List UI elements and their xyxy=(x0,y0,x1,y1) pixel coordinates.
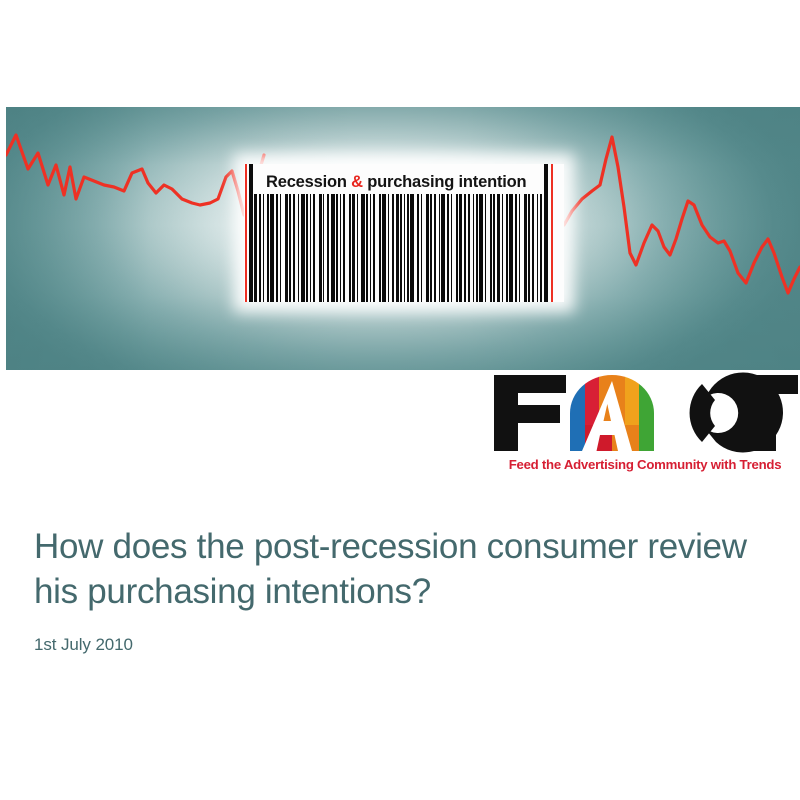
barcode-bars xyxy=(244,194,564,302)
fact-logo-letter-f xyxy=(494,375,566,451)
hero-banner: Recession & purchasing intention xyxy=(6,107,800,370)
fact-logo-tagline: Feed the Advertising Community with Tren… xyxy=(490,455,800,477)
fact-logo: Feed the Advertising Community with Tren… xyxy=(490,371,800,479)
page-title: How does the post-recession consumer rev… xyxy=(34,524,764,614)
slide-date: 1st July 2010 xyxy=(34,614,764,656)
fact-logo-mark xyxy=(490,371,800,455)
trendline-left-polyline xyxy=(6,135,264,215)
fact-logo-letter-a-colorwheel xyxy=(568,371,657,455)
barcode-caption-ampersand: & xyxy=(351,173,363,191)
barcode-graphic: Recession & purchasing intention xyxy=(244,164,564,302)
title-block: How does the post-recession consumer rev… xyxy=(34,524,764,656)
barcode-caption: Recession & purchasing intention xyxy=(266,169,558,195)
trendline-right-polyline xyxy=(564,137,800,293)
slide-root: Recession & purchasing intention xyxy=(0,0,800,800)
barcode-caption-suffix: purchasing intention xyxy=(363,173,527,191)
barcode-caption-prefix: Recession xyxy=(266,173,351,191)
